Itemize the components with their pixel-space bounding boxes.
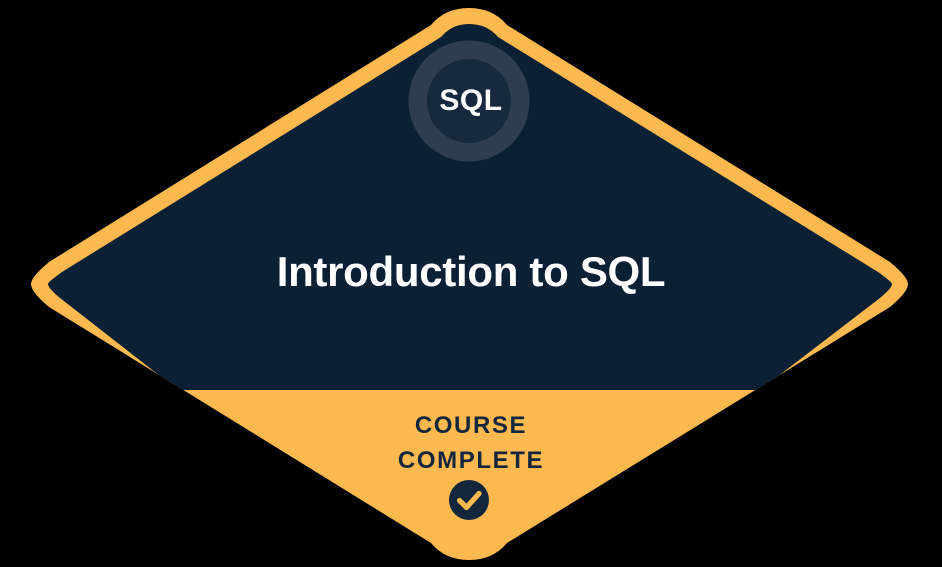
course-completion-badge: SQL Introduction to SQL COURSE COMPLETE: [0, 0, 942, 567]
check-circle-icon: [449, 480, 489, 520]
badge-graphic: [0, 0, 942, 567]
diamond-interior: [48, 24, 892, 390]
sql-ring-inner: [427, 59, 511, 143]
